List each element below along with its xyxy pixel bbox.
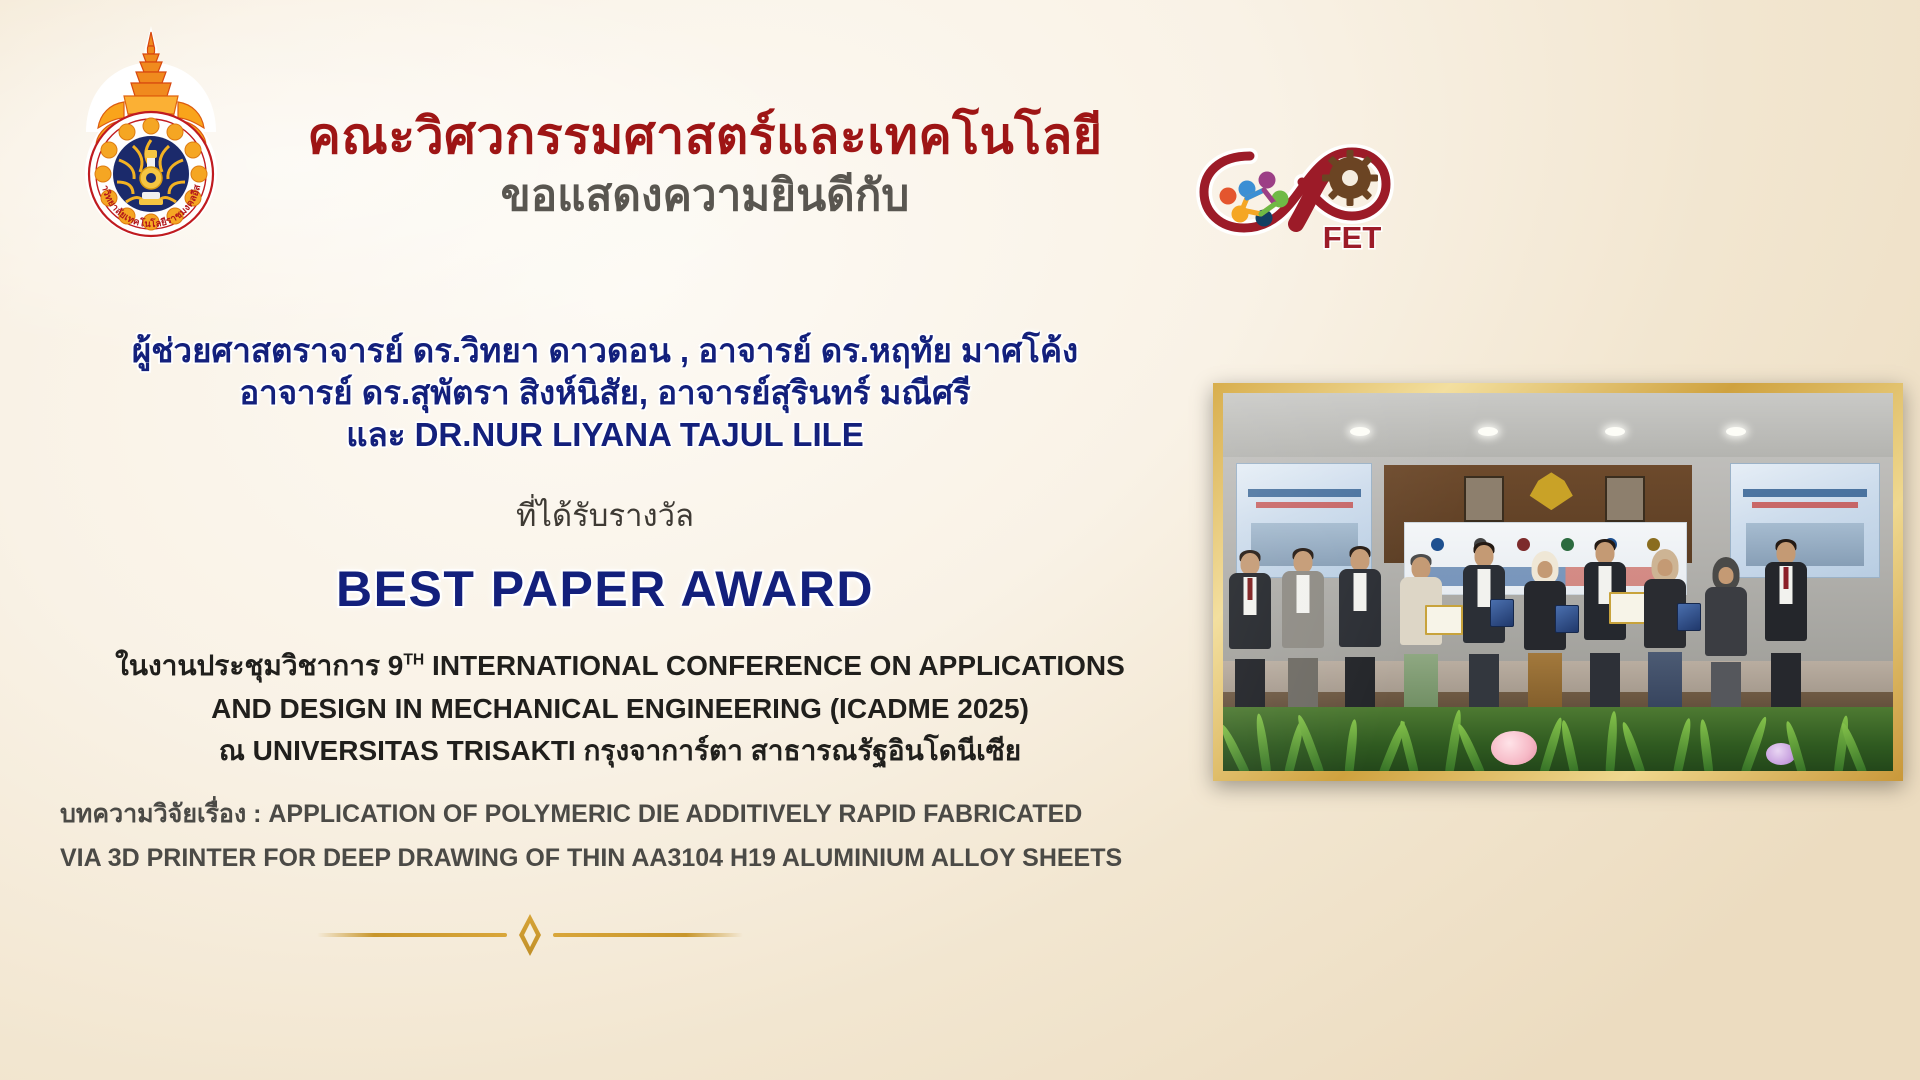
award-plaque-icon — [1555, 605, 1579, 633]
fet-infinity-logo: FET — [1192, 126, 1398, 258]
head-icon — [1240, 553, 1259, 575]
divider-rule-right — [553, 933, 743, 937]
head-icon — [1475, 545, 1494, 567]
fet-wordmark: FET — [1323, 220, 1382, 255]
received-award-label: ที่ได้รับรางวัล — [40, 490, 1170, 540]
tie-icon — [1783, 567, 1788, 589]
head-icon — [1351, 549, 1370, 571]
head-icon — [1776, 542, 1795, 564]
award-plaque-icon — [1490, 599, 1514, 627]
gear-icon — [1322, 150, 1378, 206]
head-icon — [1718, 567, 1733, 584]
conference-line-2: AND DESIGN IN MECHANICAL ENGINEERING (IC… — [40, 688, 1200, 731]
head-icon — [1658, 559, 1673, 576]
gold-diamond-divider — [290, 915, 770, 955]
award-plaque-icon — [1677, 603, 1701, 631]
head-icon — [1595, 542, 1614, 564]
congratulations-poster: มหาวิทยาลัยเทคโนโลยีราชมงคลอีสาน คณะวิศว… — [0, 0, 1920, 1080]
award-recipients-group — [1223, 506, 1893, 718]
awardee-line-1: ผู้ช่วยศาสตราจารย์ ดร.วิทยา ดาวดอน , อาจ… — [40, 330, 1170, 372]
certificate-icon — [1425, 605, 1463, 635]
award-ceremony-photo — [1223, 393, 1893, 771]
shirt-icon — [1297, 575, 1310, 613]
shirt-icon — [1478, 569, 1491, 607]
foreground-plants — [1223, 707, 1893, 771]
ceiling-light-icon — [1478, 427, 1498, 436]
paper-title-line-1: บทความวิจัยเรื่อง : APPLICATION OF POLYM… — [60, 792, 1300, 836]
shirt-icon — [1354, 573, 1367, 611]
diamond-icon — [519, 914, 541, 956]
conference-details-block: ในงานประชุมวิชาการ 9TH INTERNATIONAL CON… — [40, 645, 1200, 773]
conference-line-1-prefix: ในงานประชุมวิชาการ 9 — [115, 650, 403, 681]
head-icon — [1411, 557, 1430, 579]
tie-icon — [1247, 578, 1252, 600]
head-icon — [1537, 561, 1552, 578]
awardee-line-3: และ DR.NUR LIYANA TAJUL LILE — [40, 414, 1170, 456]
photo-ceiling — [1223, 393, 1893, 457]
awardee-line-2: อาจารย์ ดร.สุพัตรา สิงห์นิสัย, อาจารย์สุ… — [40, 372, 1170, 414]
conference-line-1: ในงานประชุมวิชาการ 9TH INTERNATIONAL CON… — [40, 645, 1200, 688]
ordinal-suffix: TH — [403, 652, 424, 669]
congratulations-label: ขอแสดงความยินดีกับ — [210, 170, 1200, 223]
award-title: BEST PAPER AWARD — [40, 560, 1170, 618]
paper-title-line-2: VIA 3D PRINTER FOR DEEP DRAWING OF THIN … — [60, 836, 1300, 880]
ceiling-light-icon — [1726, 427, 1746, 436]
awardee-names-block: ผู้ช่วยศาสตราจารย์ ดร.วิทยา ดาวดอน , อาจ… — [40, 330, 1170, 457]
pink-flower-icon — [1491, 731, 1537, 765]
faculty-name: คณะวิศวกรรมศาสตร์และเทคโนโลยี — [210, 108, 1200, 164]
conference-line-3: ณ UNIVERSITAS TRISAKTI กรุงจาการ์ตา สาธา… — [40, 730, 1200, 773]
ceiling-light-icon — [1605, 427, 1625, 436]
divider-rule-left — [317, 933, 507, 937]
head-icon — [1294, 551, 1313, 573]
photo-gold-frame — [1213, 383, 1903, 781]
screen-title-bar — [1248, 489, 1361, 497]
header-title-block: คณะวิศวกรรมศาสตร์และเทคโนโลยี ขอแสดงความ… — [210, 108, 1200, 223]
suit-icon — [1705, 587, 1747, 656]
conference-line-1-suffix: INTERNATIONAL CONFERENCE ON APPLICATIONS — [424, 650, 1125, 681]
screen-title-bar — [1743, 489, 1867, 497]
paper-title-block: บทความวิจัยเรื่อง : APPLICATION OF POLYM… — [60, 792, 1300, 880]
